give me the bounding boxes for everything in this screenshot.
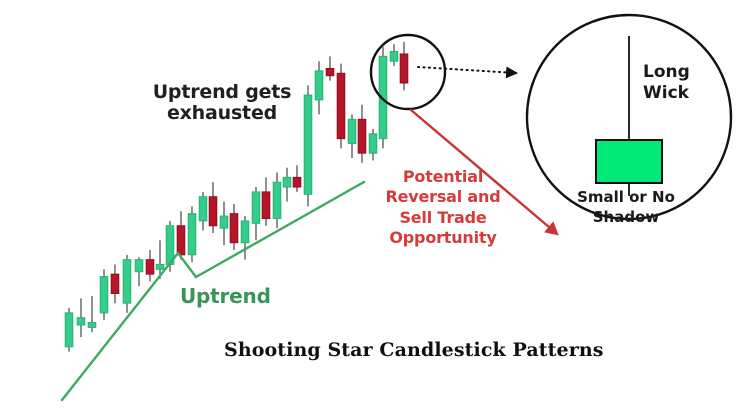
- candle-body-bearish: [293, 177, 301, 187]
- candle-body-bearish: [111, 274, 119, 293]
- page-title: Shooting Star Candlestick Patterns: [224, 340, 604, 361]
- candle-body-bullish: [88, 323, 96, 328]
- candle-body-bearish: [177, 226, 185, 255]
- candle-body-bearish: [337, 73, 345, 138]
- candle-body-bullish: [199, 197, 207, 221]
- label-potential-reversal: Potential Reversal and Sell Trade Opport…: [376, 167, 510, 249]
- dotted-zoom-pointer-icon: [418, 67, 516, 73]
- candle-body-bullish: [273, 182, 281, 218]
- candle-body-bullish: [390, 52, 398, 62]
- label-small-or-no-shadow: Small or No Shadow: [567, 188, 685, 227]
- candle-body-bullish: [156, 264, 164, 269]
- magnified-candle-body: [596, 140, 662, 183]
- candle-body-bullish: [135, 260, 143, 272]
- uptrend-leg-1: [62, 253, 178, 400]
- candle-body-bullish: [188, 214, 196, 255]
- candle-body-bullish: [369, 134, 377, 153]
- candle-body-bullish: [241, 221, 249, 243]
- candle-body-bearish: [326, 68, 334, 75]
- diagram-canvas: Uptrend gets exhausted Uptrend Potential…: [0, 0, 739, 415]
- candle-body-bullish: [348, 119, 356, 143]
- candle-body-bullish: [252, 192, 260, 223]
- candle-body-bullish: [77, 318, 85, 325]
- candle-body-bullish: [315, 71, 323, 100]
- label-long-wick: Long Wick: [643, 62, 690, 105]
- candle-body-bearish: [230, 214, 238, 243]
- candle-body-bullish: [65, 313, 73, 347]
- candle-body-bearish: [262, 192, 270, 219]
- candle-body-bullish: [283, 177, 291, 187]
- label-uptrend: Uptrend: [180, 285, 271, 307]
- label-uptrend-exhausted: Uptrend gets exhausted: [136, 82, 308, 125]
- candle-body-bearish: [146, 260, 154, 275]
- uptrend-pullback: [178, 253, 196, 277]
- candle-body-bullish: [123, 260, 131, 304]
- candle-body-bearish: [400, 54, 408, 83]
- candle-body-bearish: [209, 197, 217, 226]
- candle-body-bearish: [358, 119, 366, 153]
- candle-body-bullish: [100, 277, 108, 313]
- candle-body-bullish: [220, 216, 228, 228]
